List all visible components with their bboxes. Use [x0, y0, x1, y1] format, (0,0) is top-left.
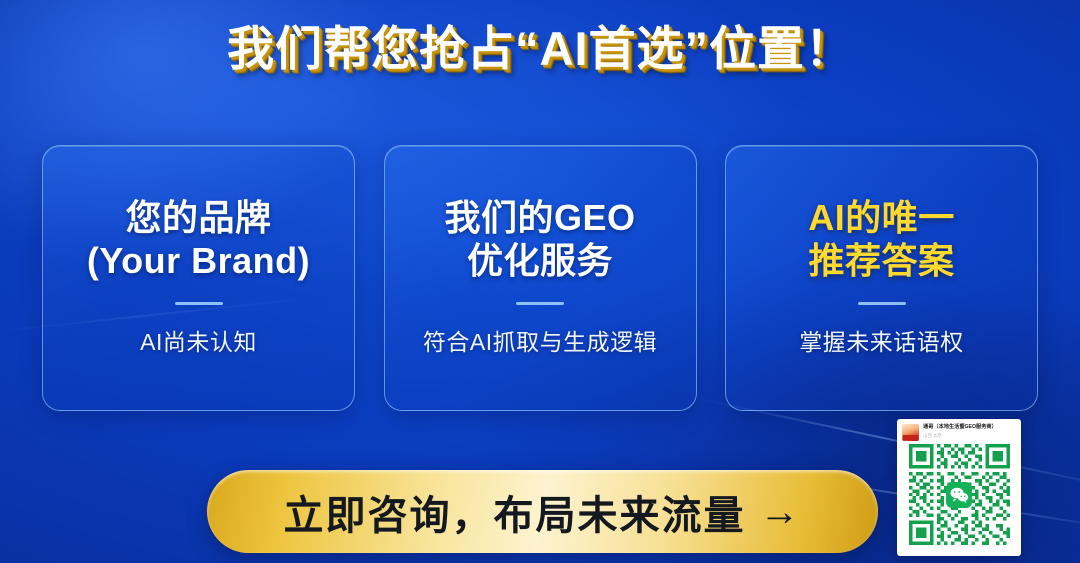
profile-avatar-icon	[902, 424, 919, 441]
cta-button-label: 立即咨询，布局未来流量 →	[284, 483, 802, 541]
card-subtitle: 符合AI抓取与生成逻辑	[423, 323, 657, 357]
card-divider	[516, 302, 564, 305]
card-title: 我们的GEO 优化服务	[444, 197, 635, 282]
wechat-icon	[946, 482, 972, 508]
card-title: AI的唯一 推荐答案	[808, 197, 955, 282]
feature-card-ai-answer: AI的唯一 推荐答案 掌握未来话语权	[725, 145, 1038, 411]
arrow-right-icon: →	[760, 492, 802, 532]
feature-card-brand: 您的品牌 (Your Brand) AI尚未认知	[42, 145, 355, 411]
promo-slide: 我们帮您抢占“AI首选”位置！ 您的品牌 (Your Brand) AI尚未认知…	[0, 0, 1080, 563]
card-subtitle: AI尚未认知	[140, 323, 257, 357]
feature-card-list: 您的品牌 (Your Brand) AI尚未认知 我们的GEO 优化服务 符合A…	[42, 145, 1038, 411]
qr-contact-name: 通哥（本地生活暨GEO服务商）	[923, 424, 1016, 432]
qr-contact-region: 山西 太原	[923, 433, 1016, 439]
feature-card-geo-service: 我们的GEO 优化服务 符合AI抓取与生成逻辑	[384, 145, 697, 411]
cta-text: 立即咨询，布局未来流量	[284, 483, 746, 541]
qr-code-image[interactable]	[903, 444, 1015, 545]
card-subtitle: 掌握未来话语权	[799, 323, 964, 357]
qr-card-header: 通哥（本地生活暨GEO服务商） 山西 太原	[902, 424, 1016, 441]
card-title: 您的品牌 (Your Brand)	[87, 197, 310, 282]
qr-card-meta: 通哥（本地生活暨GEO服务商） 山西 太原	[923, 424, 1016, 439]
card-divider	[858, 302, 906, 305]
cta-button[interactable]: 立即咨询，布局未来流量 →	[207, 470, 878, 553]
wechat-qr-card[interactable]: 通哥（本地生活暨GEO服务商） 山西 太原	[897, 419, 1021, 556]
page-title: 我们帮您抢占“AI首选”位置！	[0, 20, 1080, 79]
card-divider	[175, 302, 223, 305]
